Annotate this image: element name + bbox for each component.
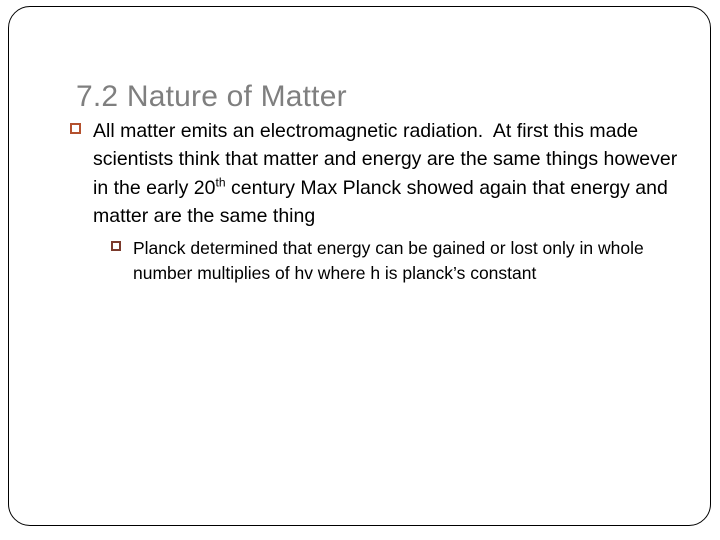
list-item: All matter emits an electromagnetic radi…: [68, 117, 692, 287]
ordinal-superscript: th: [216, 175, 226, 189]
page-title: 7.2 Nature of Matter: [76, 78, 656, 116]
slide-body-content: All matter emits an electromagnetic radi…: [68, 117, 692, 287]
bullet-list-level2: Planck determined that energy can be gai…: [109, 236, 692, 287]
slide: 7.2 Nature of Matter All matter emits an…: [0, 0, 720, 540]
hollow-square-bullet-icon: [111, 241, 121, 251]
sub-bullet-text: Planck determined that energy can be gai…: [133, 238, 649, 284]
bullet-list-level1: All matter emits an electromagnetic radi…: [68, 117, 692, 287]
list-item: Planck determined that energy can be gai…: [109, 236, 692, 287]
hollow-square-bullet-icon: [70, 123, 81, 134]
sub-bullet-container: Planck determined that energy can be gai…: [109, 236, 692, 287]
